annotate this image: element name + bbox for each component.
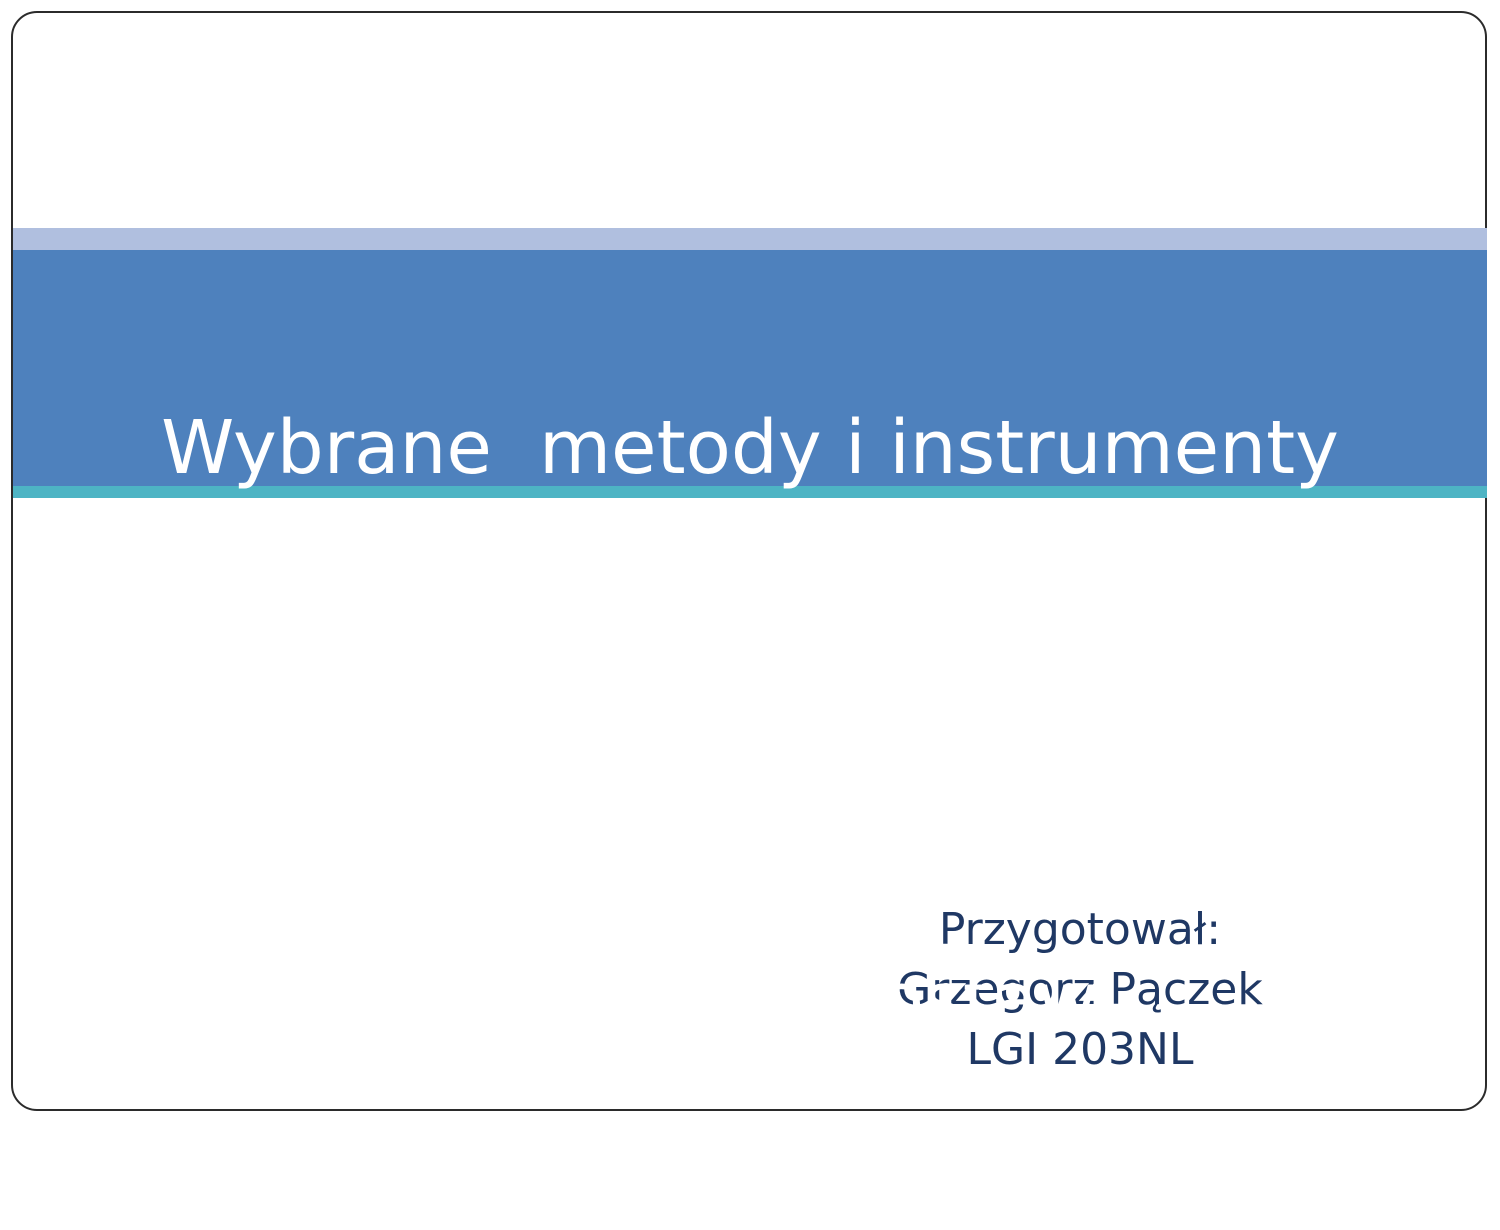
slide-title-line-3: łańcuchem dostaw bbox=[73, 954, 1427, 1046]
slide-title-line-1: Wybrane metody i instrumenty bbox=[73, 402, 1427, 494]
title-decoration-band: Wybrane metody i instrumenty pomocne w z… bbox=[13, 228, 1487, 498]
slide-title-line-2: pomocne w zarządzaniu bbox=[73, 678, 1427, 770]
presentation-slide: Wybrane metody i instrumenty pomocne w z… bbox=[0, 0, 1500, 1125]
slide-title: Wybrane metody i instrumenty pomocne w z… bbox=[73, 218, 1427, 1230]
